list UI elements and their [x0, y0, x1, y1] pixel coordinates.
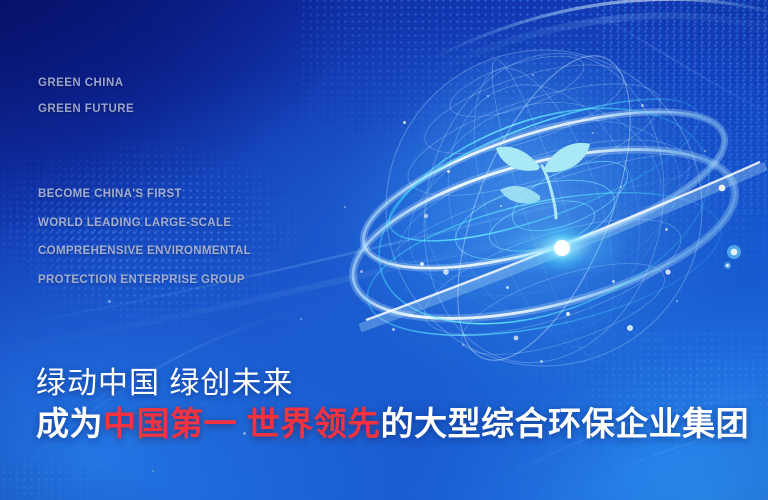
slogan-top-line-1: GREEN CHINA — [38, 70, 134, 96]
slogan-main-line-2: WORLD LEADING LARGE-SCALE — [38, 209, 251, 238]
headline-line-2-accent: 中国第一 世界领先 — [103, 405, 381, 442]
slogan-top-line-2: GREEN FUTURE — [38, 96, 134, 122]
headline-line-2-suffix: 的大型综合环保企业集团 — [381, 405, 750, 442]
english-slogan-top: GREEN CHINA GREEN FUTURE — [38, 70, 134, 122]
headline-line-2: 成为中国第一 世界领先的大型综合环保企业集团 — [36, 403, 756, 445]
slogan-main-line-1: BECOME CHINA'S FIRST — [38, 180, 251, 209]
hero-banner: GREEN CHINA GREEN FUTURE BECOME CHINA'S … — [0, 0, 768, 500]
headline-line-1: 绿动中国 绿创未来 — [36, 365, 756, 403]
chinese-headline: 绿动中国 绿创未来 成为中国第一 世界领先的大型综合环保企业集团 — [36, 365, 756, 445]
wireframe-globe-graphic — [330, 20, 768, 380]
slogan-main-line-3: COMPREHENSIVE ENVIRONMENTAL — [38, 237, 251, 266]
headline-line-2-prefix: 成为 — [36, 405, 103, 442]
english-slogan-main: BECOME CHINA'S FIRST WORLD LEADING LARGE… — [38, 180, 251, 294]
slogan-main-line-4: PROTECTION ENTERPRISE GROUP — [38, 266, 251, 295]
